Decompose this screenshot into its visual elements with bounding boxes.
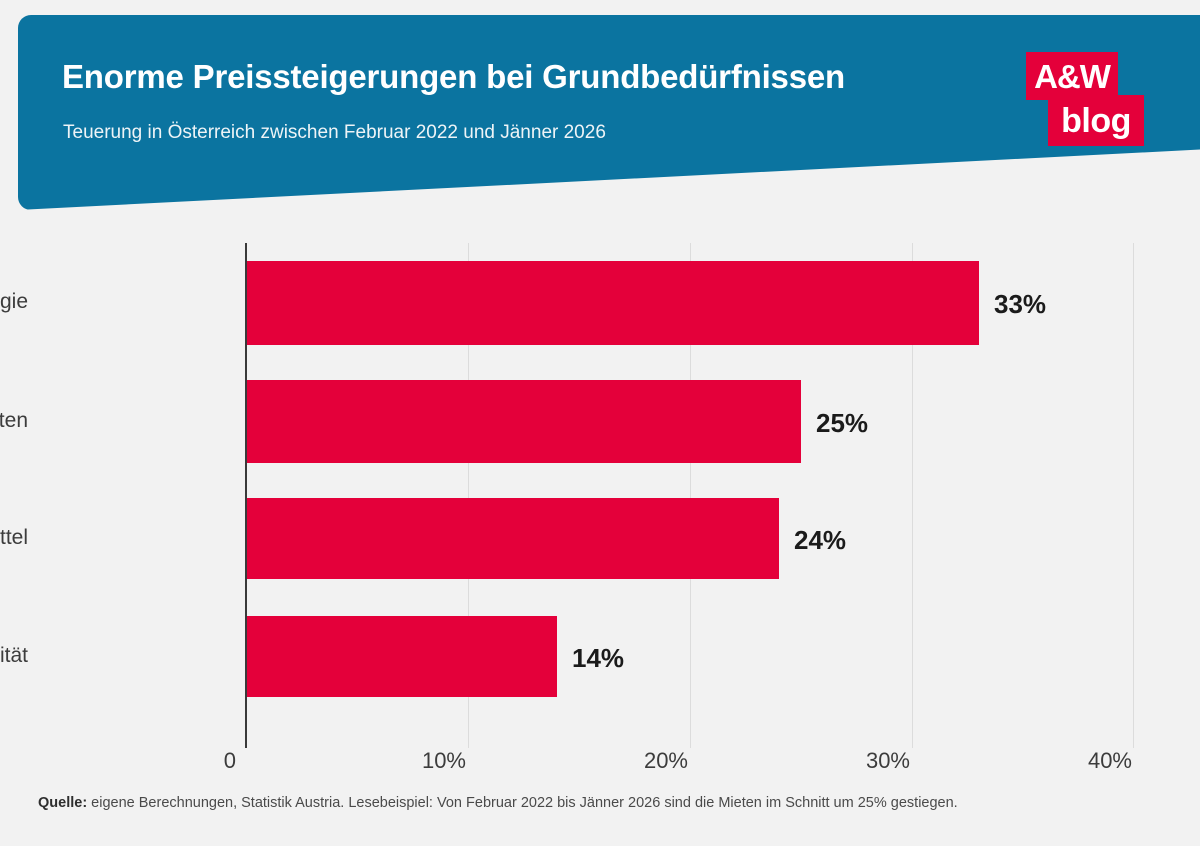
bar-nahrungsmittel[interactable] (246, 498, 779, 579)
aw-blog-logo[interactable]: A&W blog (1026, 52, 1144, 146)
x-tick-40: 40% (1066, 748, 1132, 774)
logo-blog-text: blog (1048, 95, 1144, 146)
bar-value-mobilitaet: 14% (572, 643, 624, 674)
x-tick-10: 10% (400, 748, 466, 774)
x-tick-0: 0 (200, 748, 236, 774)
logo-aw-text: A&W (1026, 52, 1118, 100)
source-note: Quelle: eigene Berechnungen, Statistik A… (38, 795, 958, 811)
y-tick-energie: Energie (0, 290, 28, 314)
header-banner (18, 15, 1200, 210)
x-tick-20: 20% (622, 748, 688, 774)
source-text: eigene Berechnungen, Statistik Austria. … (87, 795, 958, 811)
bar-chart: 33% 25% 24% 14% Energie Mieten Nahrungsm… (0, 230, 1200, 770)
bar-mieten[interactable] (246, 380, 801, 463)
bar-value-mieten: 25% (816, 408, 868, 439)
bar-value-energie: 33% (994, 289, 1046, 320)
bar-mobilitaet[interactable] (246, 616, 557, 697)
page-subtitle: Teuerung in Österreich zwischen Februar … (63, 122, 606, 144)
plot-area: 33% 25% 24% 14% (246, 243, 1134, 748)
bar-energie[interactable] (246, 261, 979, 345)
gridline-40 (1133, 243, 1134, 748)
source-label: Quelle: (38, 795, 87, 811)
y-tick-nahrungsmittel: Nahrungsmittel (0, 526, 28, 550)
y-axis-line (245, 243, 247, 748)
x-tick-30: 30% (844, 748, 910, 774)
bar-value-nahrungsmittel: 24% (794, 525, 846, 556)
y-tick-mobilitaet: Mobilität (0, 644, 28, 668)
y-tick-mieten: Mieten (0, 409, 28, 433)
page-title: Enorme Preissteigerungen bei Grundbedürf… (62, 58, 845, 96)
